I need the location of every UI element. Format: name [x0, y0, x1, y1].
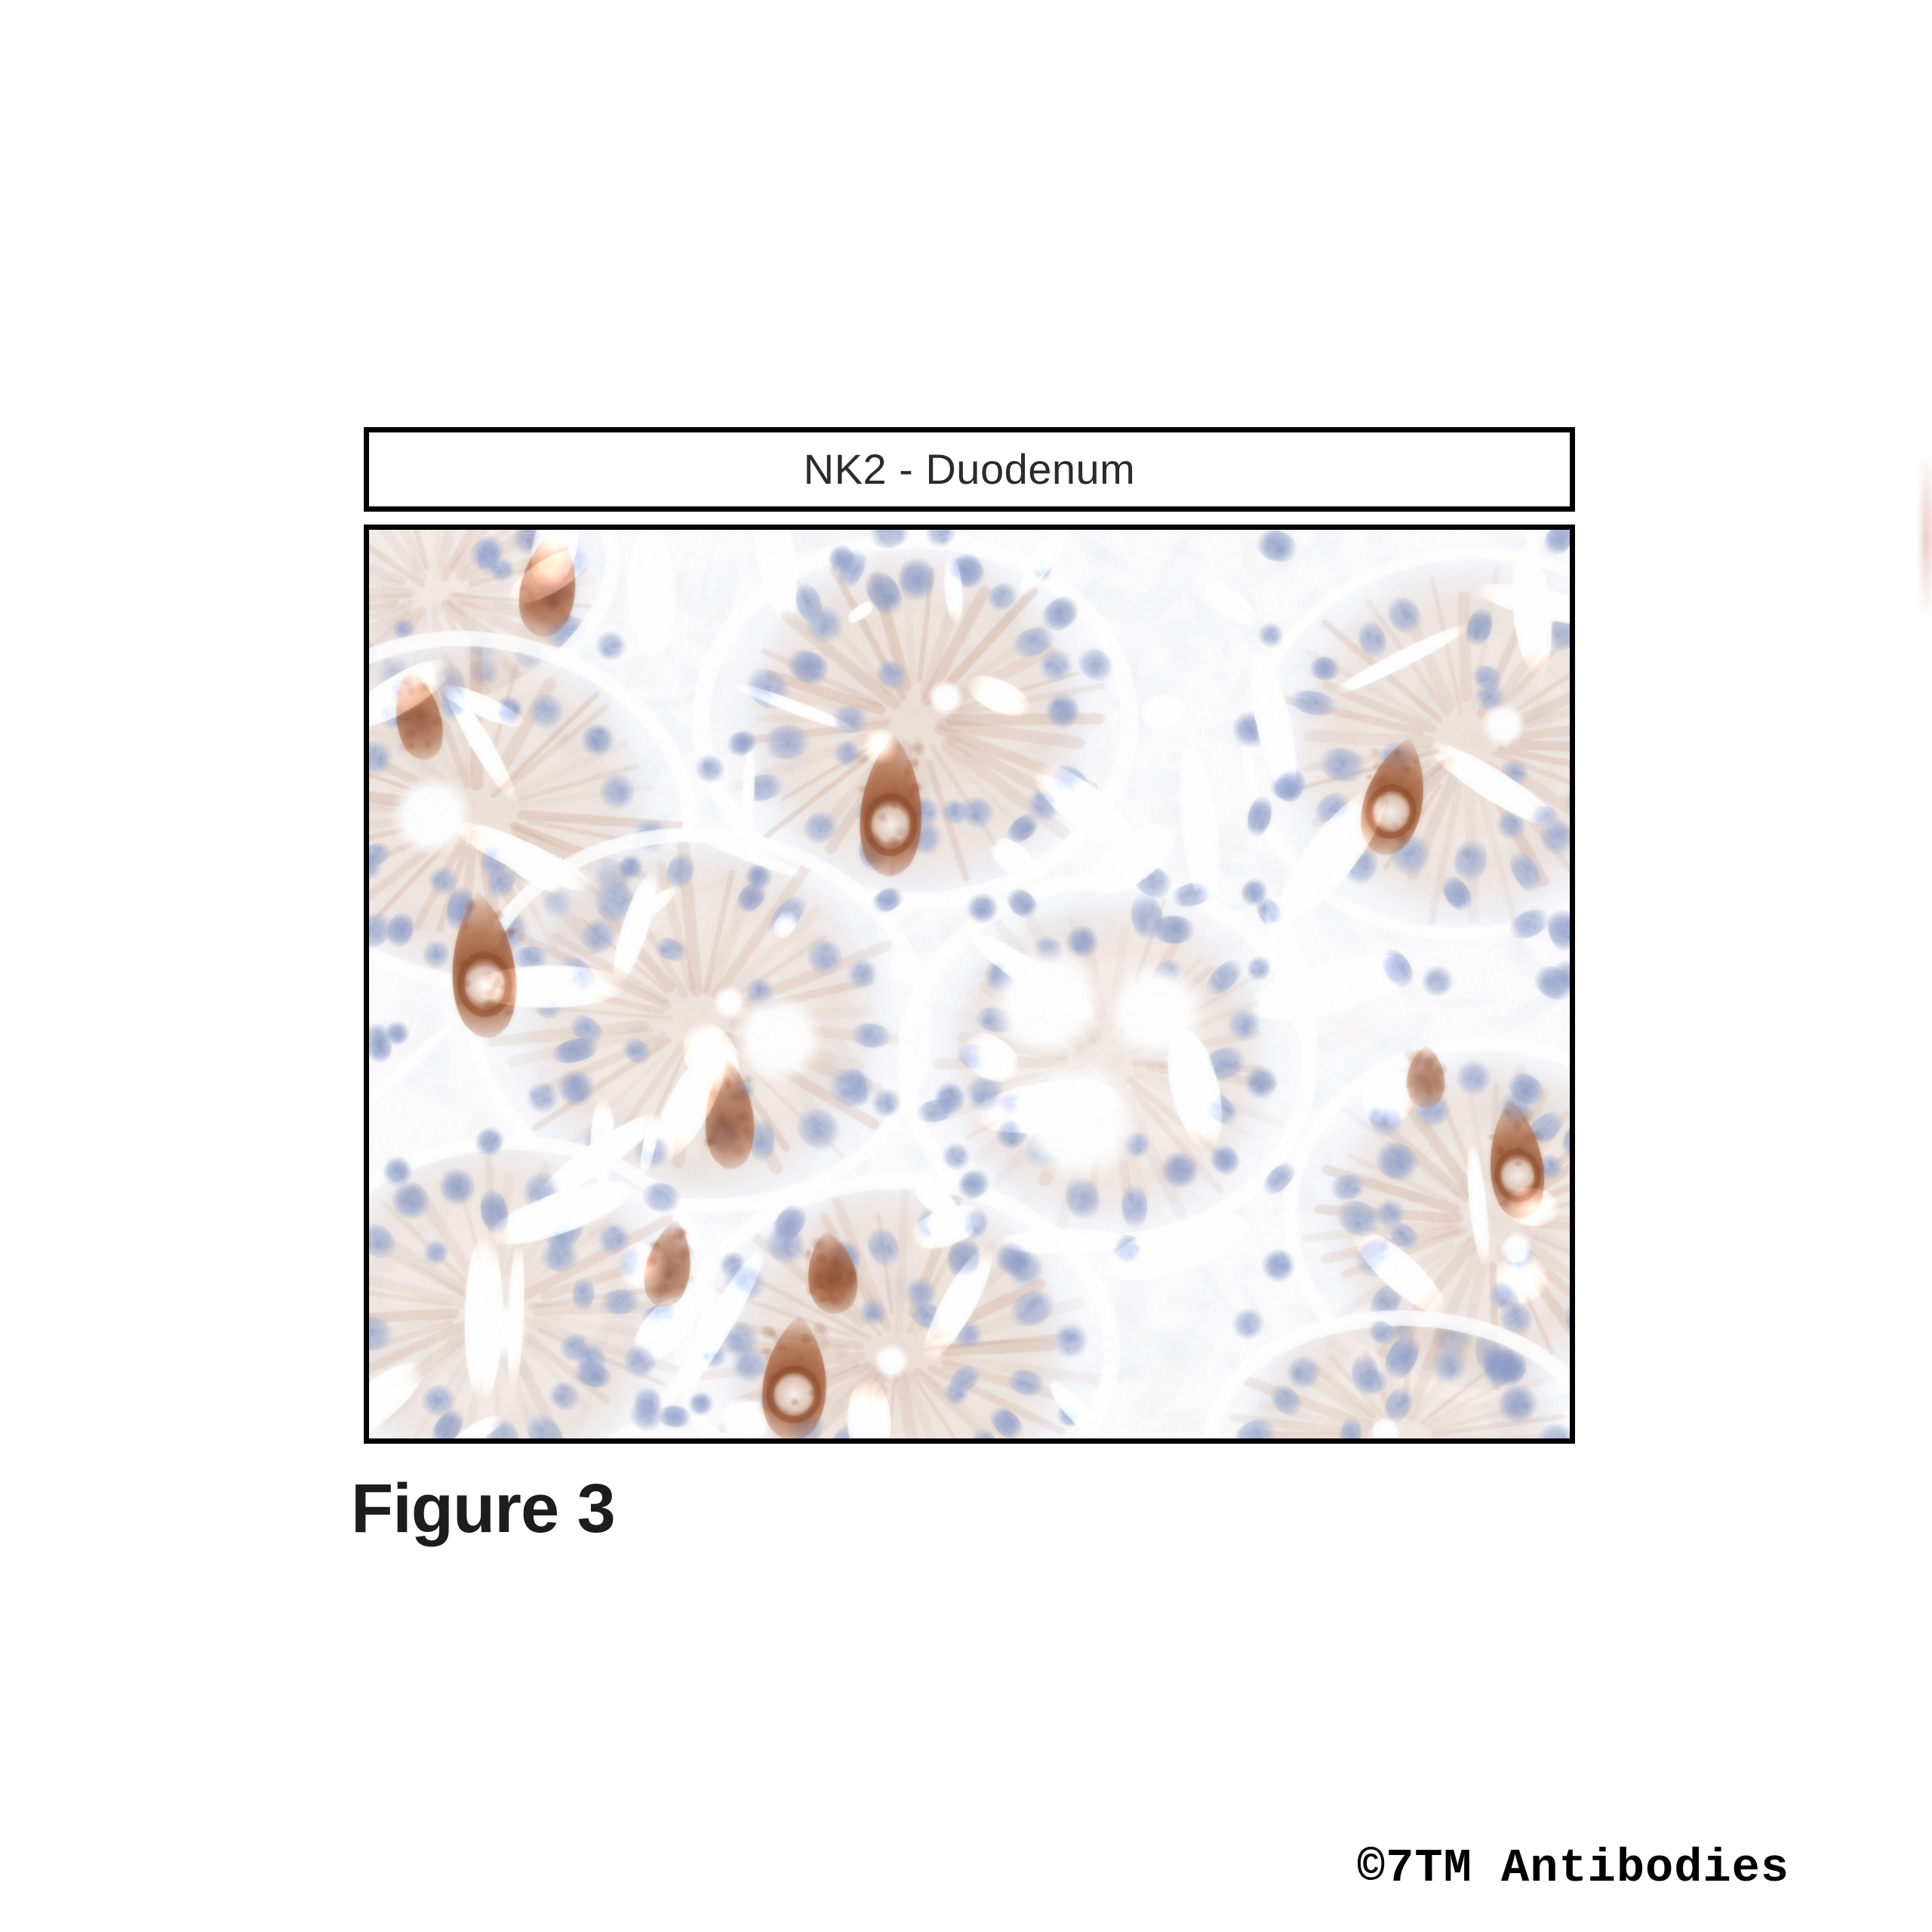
ihc-micrograph-image — [369, 530, 1570, 1438]
copyright-notice: ©7TM Antibodies — [1357, 1845, 1789, 1892]
figure-caption: Figure 3 — [351, 1474, 615, 1543]
figure-panel: NK2 - Duodenum — [364, 427, 1575, 1444]
tissue-canvas — [369, 530, 1570, 1438]
page-title: NK2 - Duodenum — [804, 448, 1136, 491]
micrograph-frame — [364, 525, 1575, 1444]
micrograph-title-bar: NK2 - Duodenum — [364, 427, 1575, 512]
edge-artifact — [1921, 453, 1932, 619]
